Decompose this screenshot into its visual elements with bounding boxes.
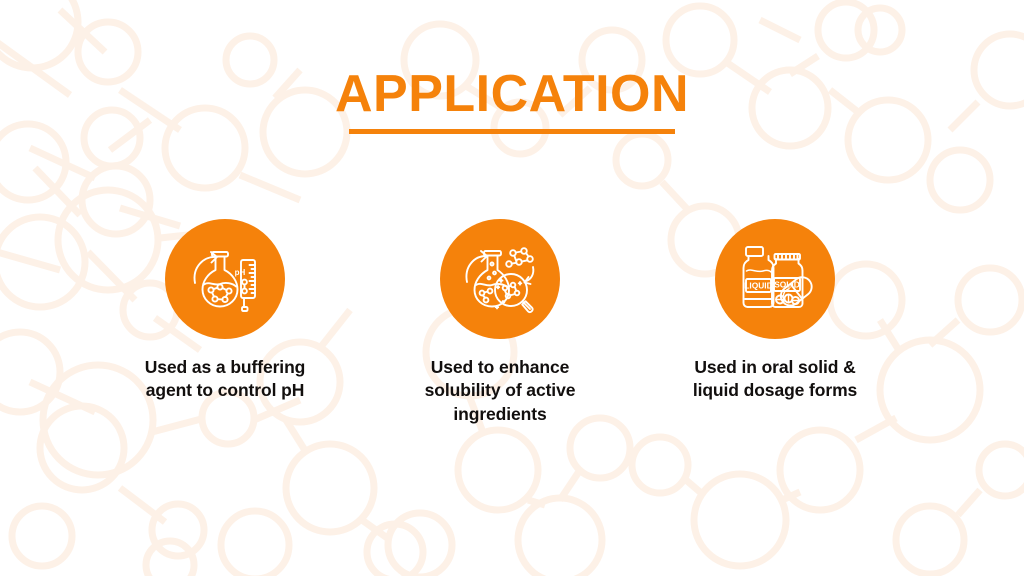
icon-circle-2[interactable] — [440, 219, 560, 339]
icon-circle-1[interactable]: pH — [165, 219, 285, 339]
svg-text:pH: pH — [235, 268, 246, 277]
flask-magnifier-molecule-icon — [461, 240, 539, 318]
application-card-2[interactable]: Used to enhance solubility of active ing… — [370, 219, 630, 426]
card-caption-3: Used in oral solid & liquid dosage forms — [645, 356, 905, 403]
card-caption-2: Used to enhance solubility of active ing… — [370, 356, 630, 426]
flask-ph-meter-icon: pH — [187, 241, 263, 317]
bottle-label-liquid: LIQUID — [744, 281, 772, 291]
application-card-3[interactable]: LIQUID SOLID Used in oral solid & liquid… — [645, 219, 905, 403]
icon-circle-3[interactable]: LIQUID SOLID — [715, 219, 835, 339]
slide-canvas: APPLICATION — [0, 0, 1024, 576]
title-underline — [349, 129, 675, 134]
title-block: APPLICATION — [0, 68, 1024, 134]
bottle-label-solid: SOLID — [774, 280, 800, 290]
liquid-solid-bottles-capsule-icon: LIQUID SOLID — [735, 241, 815, 317]
card-caption-1: Used as a buffering agent to control pH — [95, 356, 355, 403]
page-title: APPLICATION — [335, 68, 689, 120]
application-card-1[interactable]: pH Used as a buffering agent to control … — [95, 219, 355, 403]
